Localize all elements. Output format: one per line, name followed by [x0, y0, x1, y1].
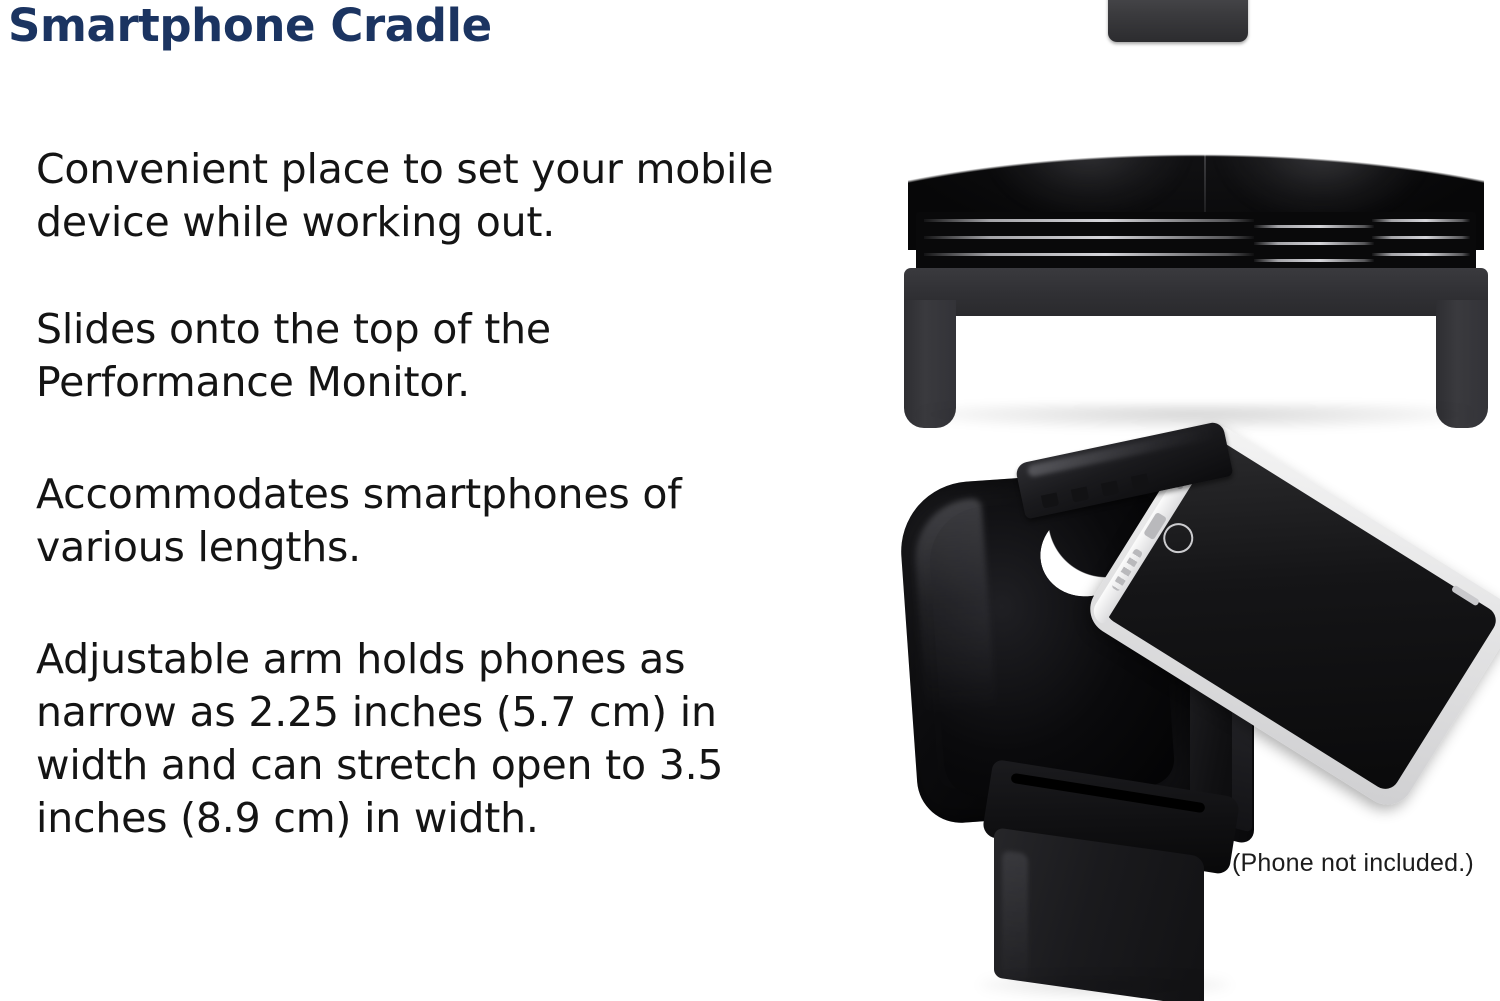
rib-line: [924, 253, 1254, 256]
feature-bullet-2: Slides onto the top of the Performance M…: [36, 303, 796, 409]
page-title: Smartphone Cradle: [8, 2, 492, 49]
text-column: Smartphone Cradle Convenient place to se…: [0, 0, 880, 1001]
product-photo-angled-with-phone: [890, 390, 1410, 1001]
cradle-pedestal-gloss: [1002, 850, 1028, 982]
rib-line: [1372, 236, 1470, 239]
cradle-center-seam: [1204, 54, 1206, 224]
rib-line: [1372, 219, 1470, 222]
product-photo-front-view: [890, 0, 1500, 430]
feature-bullet-4: Adjustable arm holds phones as narrow as…: [36, 633, 796, 845]
cradle-gloss-left: [988, 78, 1188, 218]
rib-line: [1254, 259, 1374, 262]
rib-line: [924, 236, 1254, 239]
rib-line: [1372, 253, 1470, 256]
drop-shadow: [980, 976, 1230, 998]
rib-line: [1254, 242, 1374, 245]
phone-not-included-disclaimer: (Phone not included.): [1232, 849, 1474, 878]
cradle-gloss-right: [1218, 76, 1428, 222]
feature-bullet-1: Convenient place to set your mobile devi…: [36, 143, 796, 249]
rib-line: [1254, 225, 1374, 228]
rib-line: [924, 219, 1254, 222]
cradle-base-slab: [904, 268, 1488, 316]
product-feature-infographic: Smartphone Cradle Convenient place to se…: [0, 0, 1500, 1001]
cradle-ribbed-band: [916, 212, 1476, 272]
feature-bullet-3: Accommodates smartphones of various leng…: [36, 468, 796, 574]
